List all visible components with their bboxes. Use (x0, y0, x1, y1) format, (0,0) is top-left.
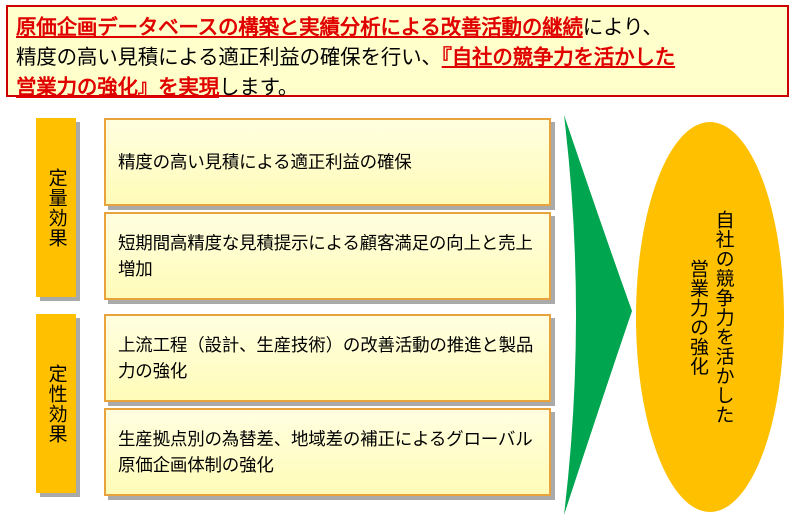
category-label-qualitative-text: 定性効果 (44, 364, 67, 444)
effect-item-box: 短期間高精度な見積提示による顧客満足の向上と売上増加 (104, 212, 551, 300)
banner-line-1-plain: により、 (583, 16, 663, 39)
banner-line-1-highlight: 原価企画データベースの構築と実績分析による改善活動の継続 (16, 16, 583, 39)
slide-canvas: 原価企画データベースの構築と実績分析による改善活動の継続により、 精度の高い見積… (0, 0, 800, 521)
banner-line-3-highlight: 営業力の強化』を実現 (16, 76, 219, 99)
outcome-oval: 自社の競争力を活かした営業力の強化 (636, 122, 784, 512)
category-label-qualitative: 定性効果 (36, 314, 76, 493)
banner-line-2: 精度の高い見積による適正利益の確保を行い、『自社の競争力を活かした (16, 43, 779, 73)
banner-line-3: 営業力の強化』を実現します。 (16, 73, 779, 103)
banner-line-2-plain: 精度の高い見積による適正利益の確保を行い、 (16, 46, 442, 69)
banner-line-1: 原価企画データベースの構築と実績分析による改善活動の継続により、 (16, 13, 779, 43)
summary-banner: 原価企画データベースの構築と実績分析による改善活動の継続により、 精度の高い見積… (6, 5, 789, 97)
outcome-column-right: 自社の競争力を活かした (713, 210, 734, 425)
effect-item-text: 上流工程（設計、生産技術）の改善活動の推進と製品力の強化 (118, 332, 537, 384)
effect-item-text: 精度の高い見積による適正利益の確保 (118, 149, 412, 175)
effect-item-box: 生産拠点別の為替差、地域差の補正によるグローバル原価企画体制の強化 (104, 408, 551, 496)
effect-item-box: 上流工程（設計、生産技術）の改善活動の推進と製品力の強化 (104, 314, 551, 402)
banner-line-3-plain: します。 (219, 76, 298, 99)
effect-item-text: 生産拠点別の為替差、地域差の補正によるグローバル原価企画体制の強化 (118, 426, 537, 478)
category-label-quantitative-text: 定量効果 (44, 168, 67, 248)
outcome-oval-text: 自社の競争力を活かした営業力の強化 (684, 210, 735, 425)
effect-item-text: 短期間高精度な見積提示による顧客満足の向上と売上増加 (118, 230, 537, 282)
effect-item-box: 精度の高い見積による適正利益の確保 (104, 118, 551, 206)
outcome-column-left: 営業力の強化 (687, 259, 708, 376)
category-label-quantitative: 定量効果 (36, 118, 76, 297)
banner-line-2-highlight: 『自社の競争力を活かした (442, 46, 675, 69)
